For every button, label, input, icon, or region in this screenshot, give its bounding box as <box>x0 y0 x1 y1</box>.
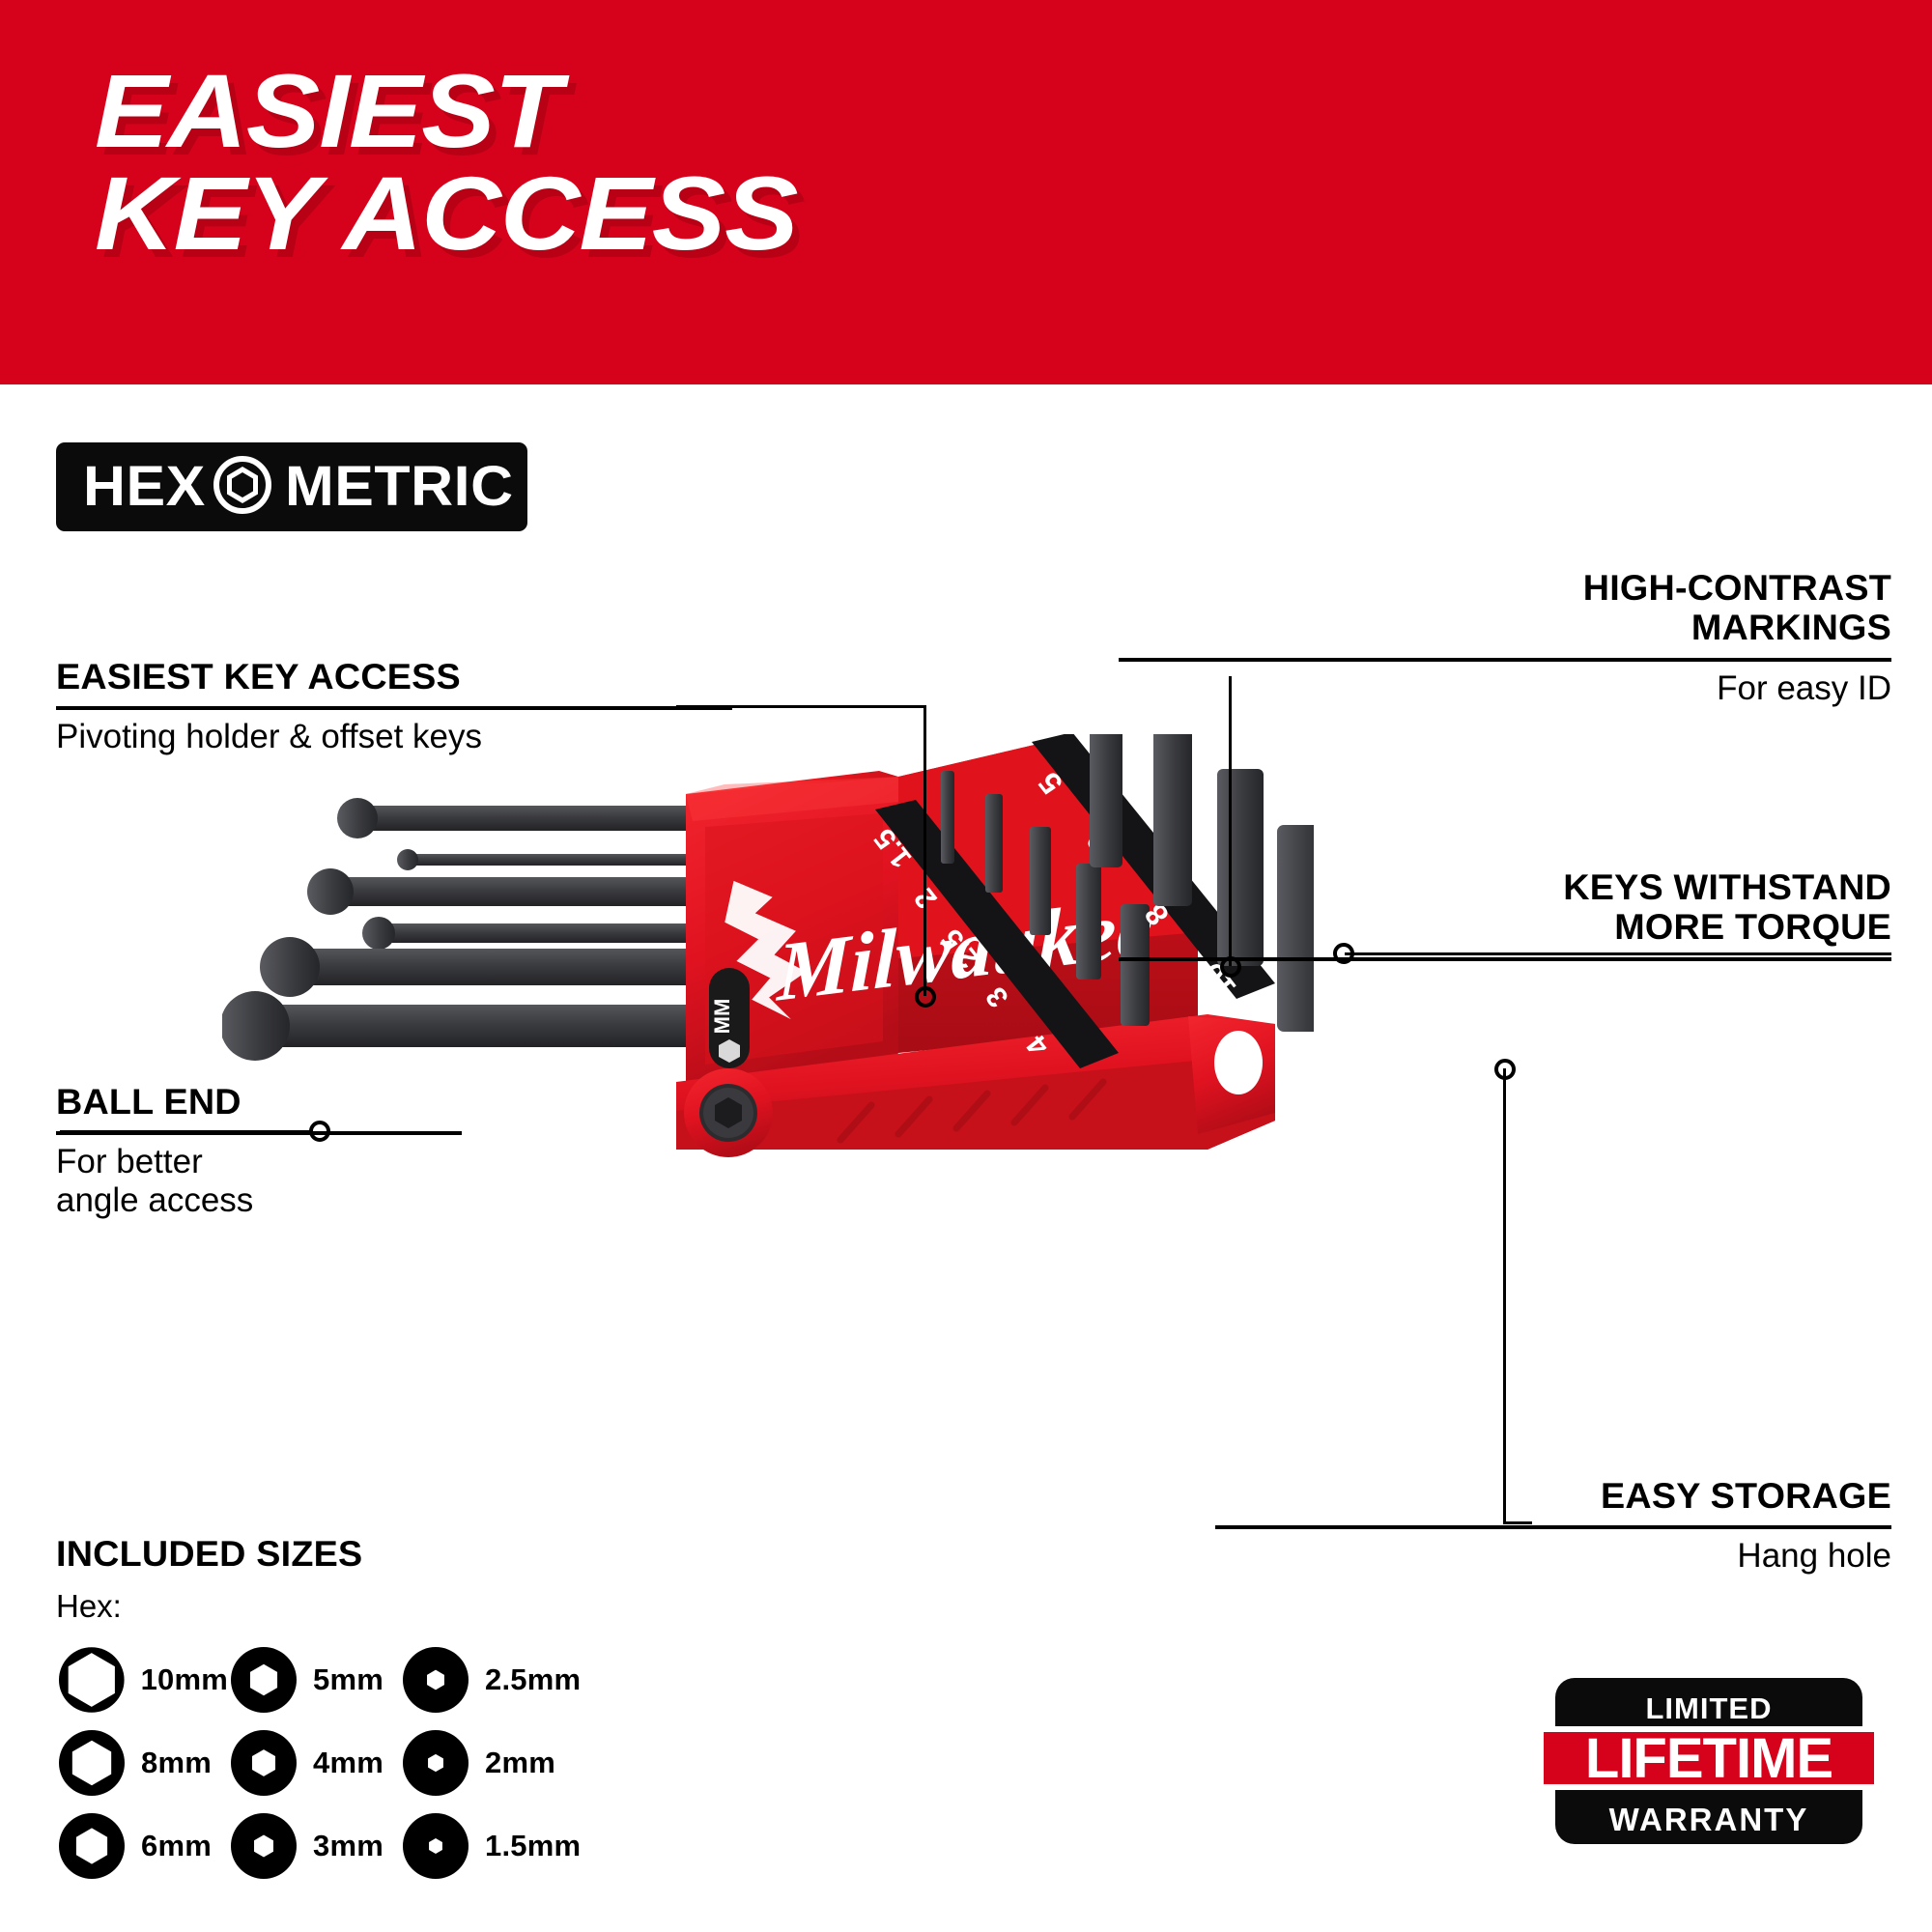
size-label: 6mm <box>141 1829 212 1863</box>
size-item: 5mm <box>228 1644 400 1716</box>
warranty-bottom-label: WARRANTY <box>1609 1802 1809 1837</box>
warranty-middle-label: LIFETIME <box>1585 1727 1833 1790</box>
callout-title-line-1: HIGH-CONTRAST <box>1103 568 1891 608</box>
size-item: 2.5mm <box>400 1644 593 1716</box>
pivot-bolt <box>684 1068 773 1157</box>
hex-size-icon <box>400 1644 471 1716</box>
hex-size-icon <box>56 1727 128 1799</box>
header-banner: EASIEST KEY ACCESS <box>0 0 1932 384</box>
leader-line-ball-end <box>60 1130 313 1133</box>
size-item: 3mm <box>228 1810 400 1882</box>
leader-dot-easy-storage <box>1494 1059 1516 1080</box>
hex-size-icon <box>228 1810 299 1882</box>
page-title-line-1: EASIEST <box>95 60 1221 162</box>
hex-metric-badge: HEX METRIC <box>56 442 527 531</box>
callout-ball-end: BALL END For better angle access <box>56 1082 462 1220</box>
hex-size-icon <box>228 1644 299 1716</box>
badge-hex-label: HEX <box>83 459 206 515</box>
callout-rule <box>1119 957 1891 961</box>
size-label: 8mm <box>141 1746 212 1780</box>
badge-metric-label: METRIC <box>285 459 514 515</box>
callout-title-line-2: MORE TORQUE <box>1103 907 1891 947</box>
callout-rule <box>56 706 732 710</box>
hex-in-circle-icon <box>213 456 271 519</box>
hang-hole <box>1214 1031 1263 1094</box>
callout-title: BALL END <box>56 1082 469 1122</box>
hex-size-icon <box>56 1644 128 1716</box>
callout-subtitle-line-1: For better <box>56 1143 462 1181</box>
leader-dot-easiest-key-access <box>915 986 936 1008</box>
callout-title: EASIEST KEY ACCESS <box>56 657 746 696</box>
size-label: 1.5mm <box>485 1829 581 1863</box>
included-sizes-grid: 10mm5mm2.5mm8mm4mm2mm6mm3mm1.5mm <box>56 1638 674 1888</box>
svg-text:MM: MM <box>710 999 734 1035</box>
included-sizes-type-label: Hex: <box>56 1588 674 1625</box>
leader-line-easy-storage-h <box>1503 1521 1532 1524</box>
callout-subtitle: Hang hole <box>1215 1537 1891 1576</box>
included-sizes-title: INCLUDED SIZES <box>56 1534 687 1575</box>
hex-size-icon <box>400 1810 471 1882</box>
size-label: 10mm <box>141 1662 228 1697</box>
hex-size-icon <box>56 1810 128 1882</box>
size-label: 2mm <box>485 1746 555 1780</box>
leader-line-easiest-key-access-v <box>923 705 926 996</box>
included-sizes-section: INCLUDED SIZES Hex: 10mm5mm2.5mm8mm4mm2m… <box>56 1534 674 1888</box>
leader-line-keys-withstand-more-torque <box>1345 952 1891 955</box>
callout-title-line-1: KEYS WITHSTAND <box>1103 867 1891 907</box>
product-image: Milwaukee MM 1.5 2 2.5 3 4 <box>222 734 1314 1362</box>
size-label: 5mm <box>313 1662 384 1697</box>
callout-title-line-2: MARKINGS <box>1103 608 1891 647</box>
unit-tag-mm: MM <box>709 968 750 1068</box>
callout-title: EASY STORAGE <box>1202 1476 1891 1516</box>
hex-size-icon <box>400 1727 471 1799</box>
leader-line-easiest-key-access-h <box>676 705 925 708</box>
size-label: 2.5mm <box>485 1662 581 1697</box>
leader-line-easy-storage-v <box>1503 1068 1506 1524</box>
warranty-badge: LIMITED LIFETIME WARRANTY <box>1544 1666 1874 1856</box>
callout-subtitle-line-2: angle access <box>56 1181 462 1220</box>
leader-dot-keys-withstand-more-torque <box>1333 943 1354 964</box>
size-item: 8mm <box>56 1727 228 1799</box>
callout-high-contrast-markings: HIGH-CONTRAST MARKINGS For easy ID <box>1119 568 1891 708</box>
callout-easiest-key-access: EASIEST KEY ACCESS Pivoting holder & off… <box>56 657 732 756</box>
callout-rule <box>1119 658 1891 662</box>
callout-rule <box>1215 1525 1891 1529</box>
size-item: 1.5mm <box>400 1810 593 1882</box>
callout-easy-storage: EASY STORAGE Hang hole <box>1215 1476 1891 1576</box>
callout-subtitle: Pivoting holder & offset keys <box>56 718 732 756</box>
page-title: EASIEST KEY ACCESS <box>95 60 1221 265</box>
hex-size-icon <box>228 1727 299 1799</box>
page-title-line-2: KEY ACCESS <box>95 162 1221 265</box>
size-item: 6mm <box>56 1810 228 1882</box>
size-item: 10mm <box>56 1644 228 1716</box>
size-label: 3mm <box>313 1829 384 1863</box>
size-label: 4mm <box>313 1746 384 1780</box>
leader-dot-ball-end <box>309 1121 330 1142</box>
size-item: 4mm <box>228 1727 400 1799</box>
warranty-top-label: LIMITED <box>1646 1691 1773 1725</box>
size-item: 2mm <box>400 1727 593 1799</box>
callout-subtitle: For easy ID <box>1119 669 1891 708</box>
